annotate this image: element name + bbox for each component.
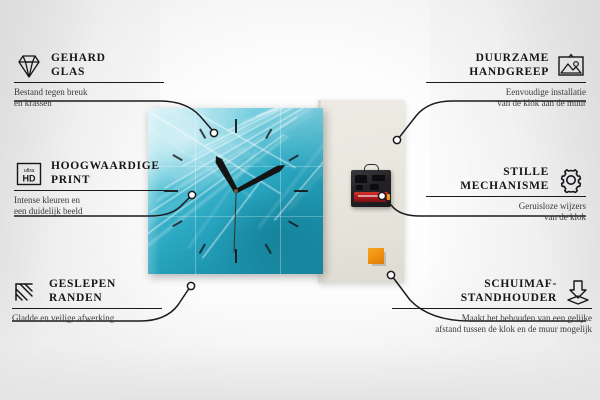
clock-center-pin	[234, 189, 238, 193]
feature-desc-line2: van de klok aan de muur	[426, 98, 586, 109]
light-streak	[274, 147, 323, 220]
feature-heading: STILLE MECHANISME	[426, 166, 586, 193]
divider	[12, 308, 162, 309]
diamond-icon	[14, 53, 44, 79]
feature-desc-line1: Gladde en veilige afwerking	[12, 313, 162, 324]
feature-heading: GEHARD GLAS	[14, 52, 164, 79]
feature-desc-line1: Eenvoudige installatie	[426, 87, 586, 98]
feature-heading: GESLEPEN RANDEN	[12, 278, 162, 305]
feature-title-line2: RANDEN	[49, 292, 116, 306]
clock-movement	[351, 170, 391, 207]
divider	[14, 82, 164, 83]
spacer-arrow-icon	[564, 279, 592, 305]
feature-title-line2: PRINT	[51, 174, 160, 188]
foam-spacer	[368, 248, 384, 264]
feature-desc-line2: van de klok	[426, 212, 586, 223]
ultra-hd-icon: ultra HD	[14, 161, 44, 187]
feature-title-line2: STANDHOUDER	[461, 292, 557, 306]
feature-title-line1: SCHUIMAF-	[461, 278, 557, 292]
feature-desc-line1: Bestand tegen breuk	[14, 87, 164, 98]
divider	[426, 82, 586, 83]
feature-gehard-glas[interactable]: GEHARD GLAS Bestand tegen breuk en krass…	[14, 52, 164, 109]
feature-heading: DUURZAME HANDGREEP	[426, 52, 586, 79]
feature-desc-line2: en krassen	[14, 98, 164, 109]
feature-desc-line2: afstand tussen de klok en de muur mogeli…	[392, 324, 592, 335]
feature-desc-line1: Maakt het behouden van een gelijke	[392, 313, 592, 324]
clock-tick	[164, 190, 178, 192]
ground-edges-icon	[12, 280, 42, 304]
feature-title-line1: STILLE	[460, 166, 549, 180]
divider	[426, 196, 586, 197]
clock-tick	[294, 190, 308, 192]
feature-title-line2: MECHANISME	[460, 180, 549, 194]
hanger-icon	[364, 164, 379, 172]
picture-frame-icon	[556, 53, 586, 79]
divider	[14, 190, 164, 191]
clock-tick	[235, 249, 237, 263]
feature-duurzame-handgreep[interactable]: DUURZAME HANDGREEP Eenvoudige installati…	[426, 52, 586, 109]
infographic-canvas: GEHARD GLAS Bestand tegen breuk en krass…	[0, 0, 600, 400]
feature-schuimafstandhouder[interactable]: SCHUIMAF- STANDHOUDER Maakt het behouden…	[392, 278, 592, 335]
feature-hoogwaardige-print[interactable]: ultra HD HOOGWAARDIGE PRINT Intense kleu…	[14, 160, 164, 217]
feature-title-line1: GEHARD	[51, 52, 106, 66]
feature-heading: ultra HD HOOGWAARDIGE PRINT	[14, 160, 164, 187]
feature-title-line1: GESLEPEN	[49, 278, 116, 292]
feature-desc-line1: Geruisloze wijzers	[426, 201, 586, 212]
svg-text:HD: HD	[23, 173, 36, 183]
feature-title-line1: HOOGWAARDIGE	[51, 160, 160, 174]
clock-battery	[354, 192, 388, 202]
feature-title-line2: GLAS	[51, 66, 106, 80]
light-streak	[202, 178, 263, 258]
feature-heading: SCHUIMAF- STANDHOUDER	[392, 278, 592, 305]
gear-icon	[556, 167, 586, 193]
feature-desc-line1: Intense kleuren en	[14, 195, 164, 206]
feature-geslepen-randen[interactable]: GESLEPEN RANDEN Gladde en veilige afwerk…	[12, 278, 162, 324]
divider	[392, 308, 592, 309]
feature-desc-line2: een duidelijk beeld	[14, 206, 164, 217]
feature-stille-mechanisme[interactable]: STILLE MECHANISME Geruisloze wijzers van…	[426, 166, 586, 223]
feature-title-line2: HANDGREEP	[469, 66, 549, 80]
feature-title-line1: DUURZAME	[469, 52, 549, 66]
clock-tick	[235, 119, 237, 133]
